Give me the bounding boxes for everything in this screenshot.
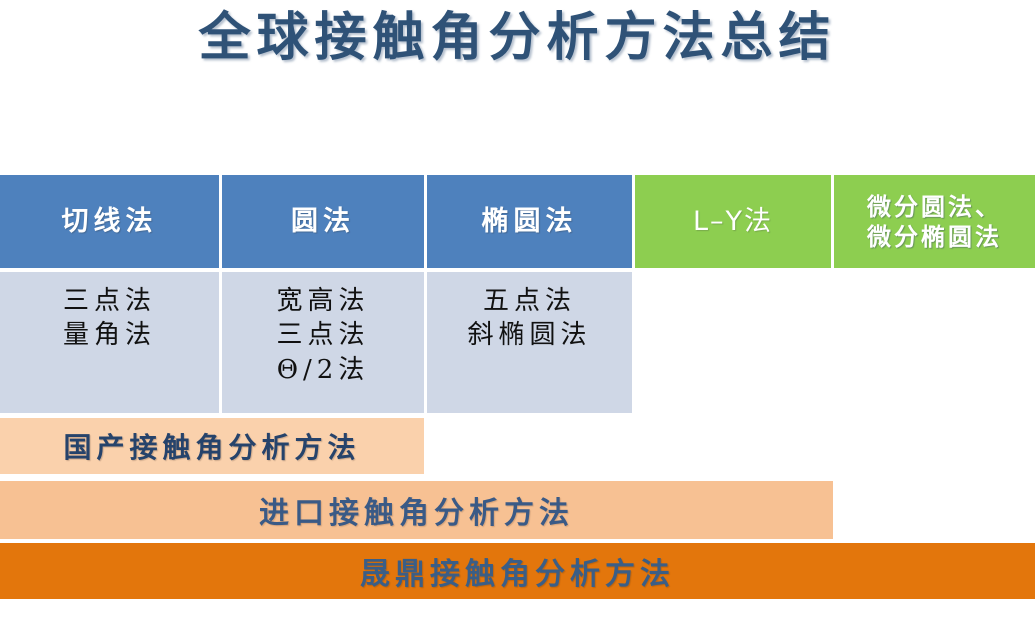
column-body-circle-method: 宽高法 三点法 Θ/2法 xyxy=(222,272,424,413)
method-item: 三点法 xyxy=(276,318,369,352)
column-body-ellipse-method: 五点法 斜椭圆法 xyxy=(427,272,632,413)
method-item: 宽高法 xyxy=(276,284,369,318)
method-item: 斜椭圆法 xyxy=(467,318,591,352)
column-body-tangent-method: 三点法 量角法 xyxy=(0,272,219,413)
column-header-ly-method: L–Y法 xyxy=(635,175,831,268)
scope-bar-imported: 进口接触角分析方法 xyxy=(0,481,833,539)
method-matrix: 切线法 圆法 椭圆法 L–Y法 微分圆法、 微分椭圆法 三点法 量角法 宽高法 … xyxy=(0,175,1035,413)
column-header-differential-methods: 微分圆法、 微分椭圆法 xyxy=(834,175,1035,268)
column-header-ellipse-method: 椭圆法 xyxy=(427,175,632,268)
method-item: 三点法 xyxy=(63,284,156,318)
page-title: 全球接触角分析方法总结 xyxy=(0,8,1035,68)
scope-bar-shengding: 晟鼎接触角分析方法 xyxy=(0,543,1035,599)
column-header-circle-method: 圆法 xyxy=(222,175,424,268)
method-item: 五点法 xyxy=(483,284,576,318)
scope-bar-domestic: 国产接触角分析方法 xyxy=(0,418,424,474)
column-header-differential-line-1: 微分圆法、 xyxy=(867,192,1002,222)
column-header-tangent-method: 切线法 xyxy=(0,175,219,268)
method-item: Θ/2法 xyxy=(277,353,370,387)
method-item: 量角法 xyxy=(63,318,156,352)
column-header-differential-line-2: 微分椭圆法 xyxy=(867,222,1002,252)
